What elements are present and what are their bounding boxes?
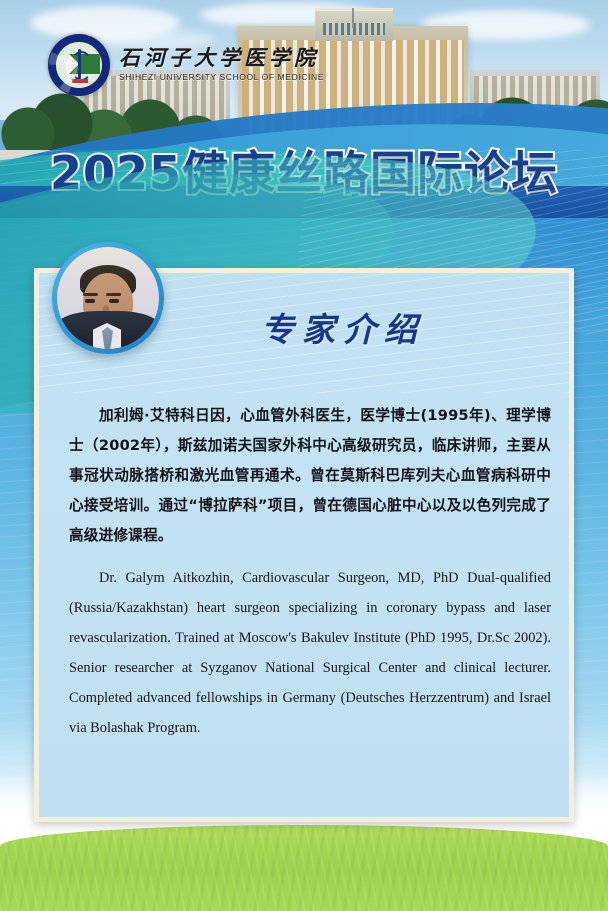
- portrait-eye: [109, 299, 119, 303]
- logo-chinese-name: 石河子大学医学院: [119, 48, 324, 69]
- expert-bio-chinese: 加利姆·艾特科日因，心血管外科医生，医学博士(1995年)、理学博士（2002年…: [69, 401, 551, 551]
- poster-page: 石河子大学医学院 SHIHEZI UNIVERSITY SCHOOL OF ME…: [0, 0, 608, 911]
- building-mast: [352, 8, 354, 28]
- grass-texture: [0, 825, 608, 911]
- building-tower: [315, 8, 393, 41]
- expert-bio-english: Dr. Galym Aitkozhin, Cardiovascular Surg…: [69, 563, 551, 743]
- grass-field: [0, 825, 608, 911]
- portrait-brow: [106, 293, 121, 296]
- section-heading: 专家介绍: [261, 303, 425, 351]
- expert-portrait-photo: [57, 247, 159, 349]
- portrait-eye: [85, 299, 95, 303]
- expert-portrait: [52, 242, 164, 354]
- content-panel-inner: 专家介绍 加利姆·艾特科日因，心血管外科医生，医学博士(1995年)、理学博士（…: [39, 273, 569, 817]
- university-logo: 石河子大学医学院 SHIHEZI UNIVERSITY SCHOOL OF ME…: [48, 34, 324, 96]
- portrait-brow: [83, 293, 98, 296]
- logo-english-name: SHIHEZI UNIVERSITY SCHOOL OF MEDICINE: [119, 73, 324, 82]
- university-medical-emblem-icon: [48, 34, 110, 96]
